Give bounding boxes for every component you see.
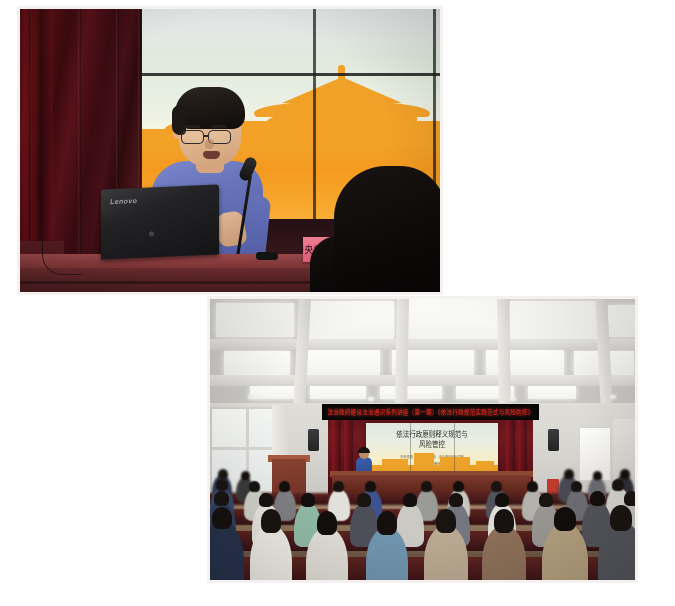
slide-title-line2: 风险管控 bbox=[366, 440, 498, 452]
audience-head bbox=[539, 493, 553, 507]
wall-loudspeaker bbox=[308, 429, 319, 451]
speaker-eyebrow bbox=[184, 125, 200, 128]
ceiling-light-panel bbox=[308, 301, 394, 339]
ceiling-beam bbox=[497, 299, 511, 409]
coffered-ceiling bbox=[210, 299, 635, 409]
ceiling-beam bbox=[395, 299, 409, 409]
audience-head bbox=[527, 481, 538, 492]
pagoda-finial bbox=[338, 65, 345, 79]
laptop: Lenovo bbox=[101, 184, 219, 259]
audience-head bbox=[214, 491, 229, 506]
lecture-hall-audience-photo: 法治政府建设法治通识系列讲座（第一期）《依法行政规范实践范式与风险防控》 依法行… bbox=[207, 296, 638, 583]
audience-head bbox=[610, 505, 632, 531]
foreground-audience-head bbox=[334, 166, 440, 292]
audience-head bbox=[495, 493, 509, 507]
skyline-right-roof bbox=[294, 111, 414, 123]
eyeglasses-bridge bbox=[204, 135, 209, 137]
led-panel-seam bbox=[313, 9, 316, 221]
audience-head bbox=[620, 469, 630, 479]
audience-head bbox=[377, 511, 397, 535]
speaker-nose bbox=[205, 139, 214, 149]
skyline-right-wall bbox=[240, 121, 440, 147]
laptop-hinge-dot bbox=[149, 231, 154, 236]
speaker-at-podium-photo: Lenovo 中央党校国家行政学院 bbox=[17, 6, 443, 295]
audience-head bbox=[403, 493, 417, 507]
audience-head bbox=[421, 481, 432, 492]
audience-head bbox=[590, 491, 605, 506]
audience-head bbox=[357, 493, 371, 507]
ceiling-light-panel bbox=[216, 303, 294, 337]
audio-cable bbox=[42, 241, 82, 275]
seated-speaker-hair bbox=[358, 447, 370, 453]
hall-photo-content: 法治政府建设法治通识系列讲座（第一期）《依法行政规范实践范式与风险防控》 依法行… bbox=[210, 299, 635, 580]
window-mullion bbox=[212, 447, 280, 450]
audience-head bbox=[279, 481, 290, 492]
screenshot-canvas: Lenovo 中央党校国家行政学院 bbox=[0, 0, 675, 606]
ceiling-light-panel bbox=[510, 301, 598, 339]
audience-head bbox=[241, 471, 250, 480]
audience-head bbox=[216, 479, 228, 491]
audience-head bbox=[554, 507, 576, 531]
ceiling-light-panel bbox=[528, 385, 576, 399]
wall-loudspeaker bbox=[548, 429, 559, 451]
speaker-photo-content: Lenovo 中央党校国家行政学院 bbox=[20, 9, 440, 292]
pagoda-upper-roof bbox=[282, 77, 402, 103]
audience-head bbox=[612, 479, 624, 491]
microphone-base bbox=[256, 252, 278, 260]
audience-head bbox=[261, 509, 281, 533]
ceiling-light-panel bbox=[608, 305, 635, 337]
ceiling-beam bbox=[210, 375, 635, 386]
led-scrolling-banner: 法治政府建设法治通识系列讲座（第一期）《依法行政规范实践范式与风险防控》 bbox=[322, 404, 539, 420]
audience-head bbox=[593, 471, 602, 480]
eyeglasses-lens bbox=[181, 130, 204, 144]
audience-head bbox=[564, 469, 574, 479]
ceiling-downlight bbox=[368, 397, 374, 401]
audience-head bbox=[333, 481, 344, 492]
ceiling-beam bbox=[210, 339, 635, 350]
audience-head bbox=[301, 493, 315, 507]
ceiling-light-panel bbox=[224, 351, 290, 375]
audience-head bbox=[449, 493, 463, 507]
audience-head bbox=[218, 469, 228, 479]
audience-head bbox=[453, 481, 464, 492]
audience-head bbox=[259, 493, 273, 507]
ceiling-light-panel bbox=[406, 299, 498, 339]
ceiling-light-panel bbox=[304, 349, 380, 375]
speaker-eyebrow bbox=[211, 125, 227, 128]
audience-head bbox=[249, 481, 260, 492]
audience-head bbox=[491, 481, 502, 492]
speaker-mouth bbox=[203, 151, 220, 159]
ceiling-downlight bbox=[610, 395, 616, 399]
ceiling-light-panel bbox=[380, 384, 442, 399]
audience-head bbox=[571, 481, 582, 492]
audience-head bbox=[494, 509, 514, 533]
audience-head bbox=[365, 481, 376, 492]
audience-head bbox=[624, 491, 635, 506]
led-panel-seam bbox=[142, 73, 440, 76]
laptop-brand-label: Lenovo bbox=[110, 198, 137, 206]
ceiling-light-panel bbox=[310, 385, 366, 399]
audience-head bbox=[436, 509, 456, 533]
ceiling-downlight bbox=[248, 395, 254, 399]
ceiling-downlight bbox=[510, 397, 516, 401]
ceiling-light-panel bbox=[250, 385, 296, 399]
audience-head bbox=[212, 507, 232, 529]
led-banner-text: 法治政府建设法治通识系列讲座（第一期）《依法行政规范实践范式与风险防控》 bbox=[327, 407, 533, 417]
audience-head bbox=[317, 511, 337, 535]
